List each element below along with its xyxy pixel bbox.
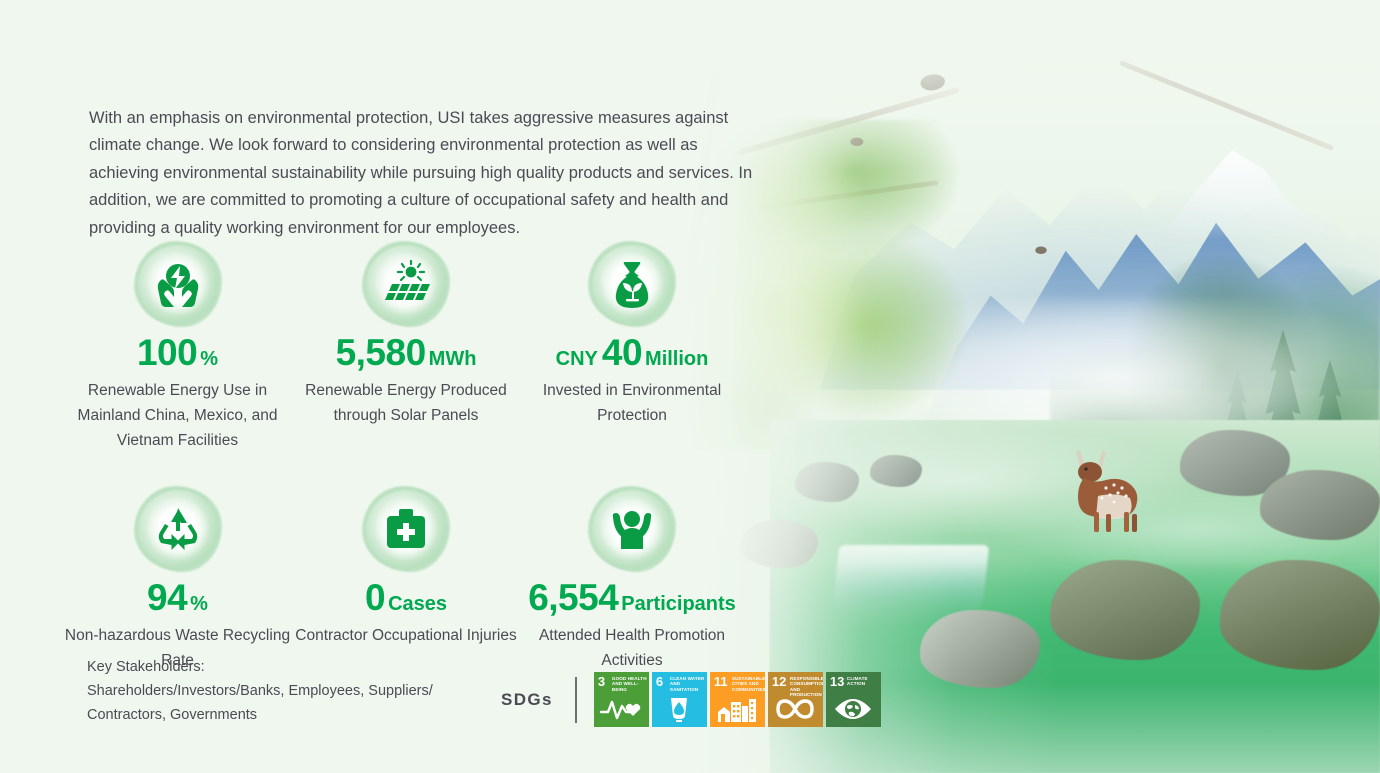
stat-renewable-energy-use: 100% Renewable Energy Use in Mainland Ch… bbox=[60, 238, 295, 453]
bird-icon: ⬬ bbox=[1035, 243, 1047, 257]
river-rock bbox=[920, 610, 1040, 688]
stat-value: 0Cases bbox=[295, 579, 517, 616]
sdgs-divider bbox=[575, 677, 577, 723]
first-aid-kit-icon bbox=[358, 483, 454, 575]
stat-number: 40 bbox=[602, 332, 642, 373]
stat-number: 6,554 bbox=[528, 577, 618, 618]
stat-number: 94 bbox=[147, 577, 187, 618]
recycling-icon bbox=[130, 483, 226, 575]
sdg-number: 6 bbox=[656, 675, 663, 688]
river-rock bbox=[1260, 470, 1380, 540]
stat-caption: Renewable Energy Use in Mainland China, … bbox=[60, 378, 295, 453]
stat-unit: % bbox=[200, 348, 218, 370]
intro-paragraph: With an emphasis on environmental protec… bbox=[89, 105, 765, 243]
stat-environmental-investment: CNY40Million Invested in Environmental P… bbox=[517, 238, 747, 453]
stat-caption: Renewable Energy Produced through Solar … bbox=[295, 378, 517, 428]
sdg-badge-13[interactable]: 13 Climate Action bbox=[826, 672, 881, 727]
sdg-badge-list: 3 Good Health and Well-Being 6 Clean Wat… bbox=[594, 672, 881, 727]
infinity-icon bbox=[768, 694, 823, 724]
stat-unit: Cases bbox=[388, 593, 447, 615]
sdg-title: Good Health and Well-Being bbox=[612, 676, 647, 692]
footer: Key Stakeholders: Shareholders/Investors… bbox=[87, 655, 881, 727]
solar-panel-icon bbox=[358, 238, 454, 330]
stat-waste-recycling: 94% Non-hazardous Waste Recycling Rate bbox=[60, 483, 295, 673]
sdg-number: 13 bbox=[830, 675, 844, 688]
heartbeat-icon bbox=[594, 694, 649, 724]
hands-holding-energy-icon bbox=[130, 238, 226, 330]
sdg-badge-12[interactable]: 12 Responsible Consumption and Productio… bbox=[768, 672, 823, 727]
key-stakeholders-block: Key Stakeholders: Shareholders/Investors… bbox=[87, 655, 485, 727]
money-bag-sprout-icon bbox=[584, 238, 680, 330]
bird-icon: ⬬ bbox=[918, 66, 948, 99]
sdg-title: Sustainable Cities and Communities bbox=[732, 676, 763, 692]
river-rock bbox=[1220, 560, 1380, 670]
stat-value: 100% bbox=[60, 334, 295, 371]
sdg-badge-3[interactable]: 3 Good Health and Well-Being bbox=[594, 672, 649, 727]
city-buildings-icon bbox=[710, 694, 765, 724]
person-raising-arms-icon bbox=[584, 483, 680, 575]
stat-value: CNY40Million bbox=[517, 334, 747, 371]
sdg-title: Climate Action bbox=[847, 676, 879, 687]
sdg-badge-6[interactable]: 6 Clean Water and Sanitation bbox=[652, 672, 707, 727]
sdgs-section: SDGs 3 Good Health and Well-Being bbox=[501, 672, 881, 727]
stakeholders-title: Key Stakeholders: bbox=[87, 655, 485, 679]
river-rock bbox=[795, 462, 859, 502]
statistics-row-1: 100% Renewable Energy Use in Mainland Ch… bbox=[60, 238, 780, 453]
sdgs-label: SDGs bbox=[501, 690, 553, 710]
sdg-number: 12 bbox=[772, 675, 786, 688]
statistics-row-2: 94% Non-hazardous Waste Recycling Rate bbox=[60, 483, 780, 673]
sdg-badge-11[interactable]: 11 Sustainable Cities and Communities bbox=[710, 672, 765, 727]
stat-caption: Invested in Environmental Protection bbox=[517, 378, 747, 428]
river-rock bbox=[1050, 560, 1200, 660]
deer-illustration bbox=[1040, 438, 1160, 534]
stat-unit: Million bbox=[645, 348, 708, 370]
sdg-number: 11 bbox=[714, 675, 728, 688]
river-rock bbox=[870, 455, 922, 487]
stat-unit: % bbox=[190, 593, 208, 615]
esg-environment-infographic: ⬬ ⬬ ⬬ bbox=[0, 0, 1380, 773]
eye-globe-icon bbox=[826, 694, 881, 724]
stat-caption: Contractor Occupational Injuries bbox=[295, 623, 517, 648]
stat-unit: MWh bbox=[429, 348, 477, 370]
water-glass-icon bbox=[652, 694, 707, 724]
stat-contractor-injuries: 0Cases Contractor Occupational Injuries bbox=[295, 483, 517, 673]
bird-icon: ⬬ bbox=[850, 135, 864, 151]
sdg-number: 3 bbox=[598, 675, 605, 688]
stat-number: 100 bbox=[137, 332, 197, 373]
stat-solar-energy: 5,580MWh Renewable Energy Produced throu… bbox=[295, 238, 517, 453]
stakeholders-list: Shareholders/Investors/Banks, Employees,… bbox=[87, 679, 485, 727]
stat-prefix: CNY bbox=[556, 348, 598, 370]
stat-health-participants: 6,554Participants Attended Health Promot… bbox=[517, 483, 747, 673]
stat-value: 5,580MWh bbox=[295, 334, 517, 371]
sdg-title: Clean Water and Sanitation bbox=[670, 676, 705, 692]
stat-number: 5,580 bbox=[336, 332, 426, 373]
stat-unit: Participants bbox=[621, 593, 735, 615]
stat-number: 0 bbox=[365, 577, 385, 618]
stat-value: 94% bbox=[60, 579, 295, 616]
stat-value: 6,554Participants bbox=[517, 579, 747, 616]
statistics-grid: 100% Renewable Energy Use in Mainland Ch… bbox=[60, 238, 780, 673]
content-column: With an emphasis on environmental protec… bbox=[0, 0, 800, 773]
